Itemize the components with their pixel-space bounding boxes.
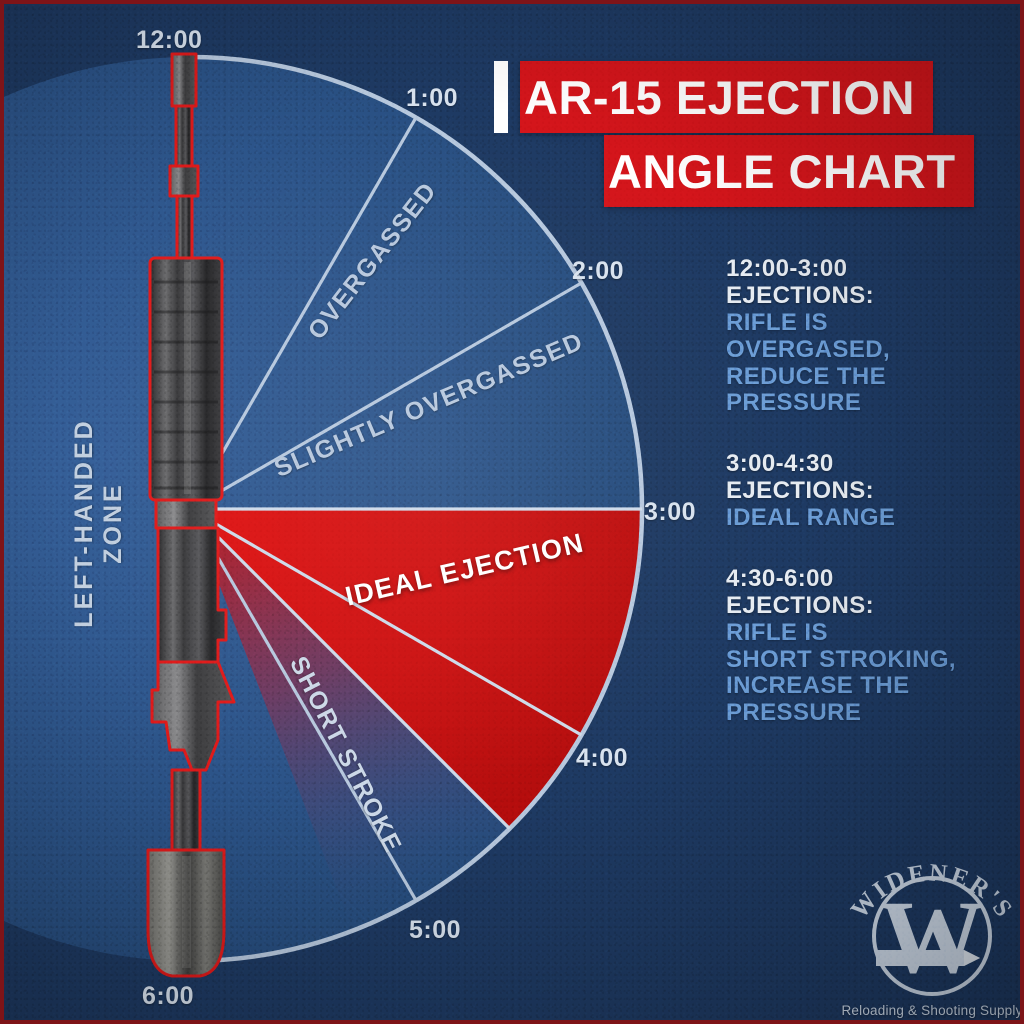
rifle-barrel-nut — [156, 500, 216, 528]
rifle-upper-receiver — [158, 528, 226, 662]
ar15-rifle-illustration — [122, 50, 250, 982]
legend-body-line-2: OVERGASED, — [726, 337, 1016, 364]
legend-body-line-2: SHORT STROKING, — [726, 647, 1016, 674]
legend-head-line-2: EJECTIONS: — [726, 478, 1016, 505]
legend-body-line-1: IDEAL RANGE — [726, 505, 1016, 532]
logo-bullet-icon — [876, 950, 980, 966]
rifle-lower-receiver — [152, 662, 234, 770]
legend-head-line-1: 3:00-4:30 — [726, 451, 1016, 478]
rifle-barrel-upper — [176, 106, 192, 166]
legend-head-line-2: EJECTIONS: — [726, 283, 1016, 310]
rifle-front-sight — [170, 166, 198, 196]
legend-body-line-3: INCREASE THE — [726, 673, 1016, 700]
legend-head-line-1: 12:00-3:00 — [726, 256, 1016, 283]
legend-body-line-1: RIFLE IS — [726, 620, 1016, 647]
legend-body-line-1: RIFLE IS — [726, 310, 1016, 337]
legend-body-line-4: PRESSURE — [726, 390, 1016, 417]
wideners-logo-mark: WIDENER'S W — [840, 840, 1024, 1020]
legend-head-line-2: EJECTIONS: — [726, 593, 1016, 620]
infographic-canvas: OVERGASSED SLIGHTLY OVERGASSED IDEAL EJE… — [0, 0, 1024, 1024]
legend-block-overgassed: 12:00-3:00 EJECTIONS: RIFLE IS OVERGASED… — [726, 256, 1016, 417]
rifle-barrel-mid — [177, 196, 192, 258]
legend-body-line-3: REDUCE THE — [726, 364, 1016, 391]
legend-panel: 12:00-3:00 EJECTIONS: RIFLE IS OVERGASED… — [726, 256, 1016, 761]
legend-head-line-1: 4:30-6:00 — [726, 566, 1016, 593]
legend-block-short-stroke: 4:30-6:00 EJECTIONS: RIFLE IS SHORT STRO… — [726, 566, 1016, 727]
legend-block-ideal: 3:00-4:30 EJECTIONS: IDEAL RANGE — [726, 451, 1016, 532]
rifle-flash-hider — [172, 54, 196, 106]
legend-body-line-4: PRESSURE — [726, 700, 1016, 727]
wideners-logo: WIDENER'S W Reloading & Shooting Supply — [840, 840, 1024, 1020]
logo-tagline: Reloading & Shooting Supply — [840, 1003, 1024, 1018]
logo-monogram: W — [880, 880, 984, 995]
